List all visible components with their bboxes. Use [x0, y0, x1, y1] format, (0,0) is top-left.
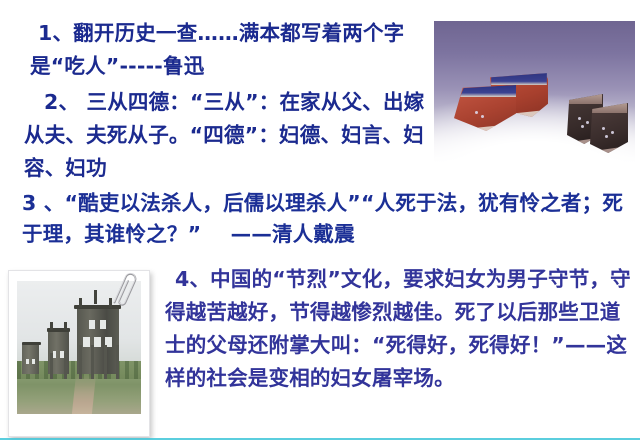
paragraph-3: 3 、“酷吏以法杀人，后儒以理杀人”“人死于法，犹有怜之者；死于理，其谁怜之？”…	[22, 188, 640, 250]
archway-finial	[79, 298, 82, 308]
archway-finial	[64, 322, 67, 330]
archway-small-icon	[22, 344, 39, 375]
archway-finial	[50, 322, 53, 330]
slide-canvas: 1、翻开历史一查……满本都写着两个字是“吃人”-----鲁迅 2、 三从四德：“…	[0, 0, 640, 440]
lotus-shoes-photo	[434, 21, 635, 169]
archway-large-icon	[77, 308, 119, 375]
paragraph-4: 4、中国的“节烈”文化，要求妇女为男子守节，守得越苦越好，节得越惨烈越佳。死了以…	[165, 263, 637, 395]
archway-finial	[94, 290, 97, 304]
dirt-path	[72, 374, 96, 414]
paragraph-1: 1、翻开历史一查……满本都写着两个字是“吃人”-----鲁迅	[30, 17, 435, 83]
archway-roof	[22, 342, 41, 345]
paragraph-2: 2、 三从四德：“三从”：在家从父、出嫁从夫、夫死从子。“四德”：妇德、妇言、妇…	[24, 86, 434, 185]
